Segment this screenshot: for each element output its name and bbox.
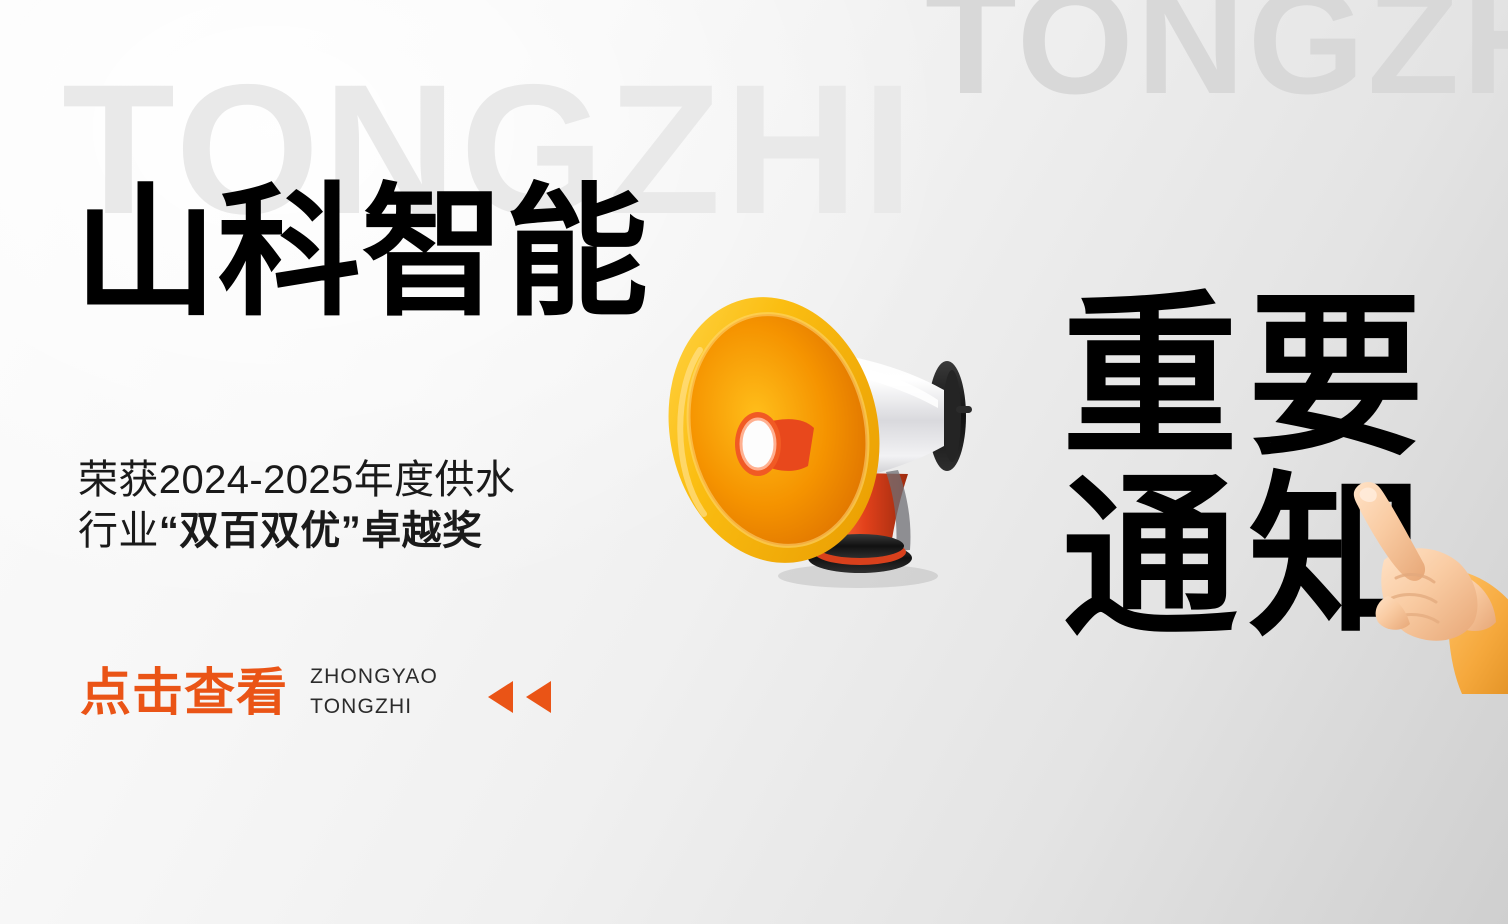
watermark-tongzhi-top-right: TONGZHI: [925, 0, 1508, 116]
pointing-hand-icon: [1336, 474, 1508, 694]
page-title: 山科智能: [74, 182, 649, 325]
cta-arrows: [488, 681, 551, 713]
subtitle-award-name: “双百双优”: [159, 509, 361, 553]
subtitle-block: 荣获2024-2025年度供水 行业“双百双优”卓越奖: [78, 455, 515, 557]
cta-pinyin-line-2: TONGZHI: [310, 692, 438, 722]
notice-char-3: 通: [1057, 469, 1243, 650]
cta-row[interactable]: 点击查看 ZHONGYAO TONGZHI: [80, 662, 551, 723]
subtitle-line-2-prefix: 行业: [78, 509, 159, 553]
megaphone-icon: [608, 258, 1028, 598]
notice-char-2: 要: [1243, 288, 1429, 469]
cta-pinyin: ZHONGYAO TONGZHI: [310, 662, 438, 723]
cta-pinyin-line-1: ZHONGYAO: [310, 662, 438, 692]
triangle-left-icon: [526, 681, 551, 713]
subtitle-award-suffix: 卓越奖: [361, 509, 482, 553]
promo-poster: TONGZHI TONGZHI: [0, 0, 1508, 924]
click-to-view-button[interactable]: 点击查看: [80, 667, 288, 718]
subtitle-line-2: 行业“双百双优”卓越奖: [78, 506, 515, 557]
subtitle-line-1: 荣获2024-2025年度供水: [78, 455, 515, 506]
notice-char-1: 重: [1057, 288, 1243, 469]
triangle-left-icon: [488, 681, 513, 713]
